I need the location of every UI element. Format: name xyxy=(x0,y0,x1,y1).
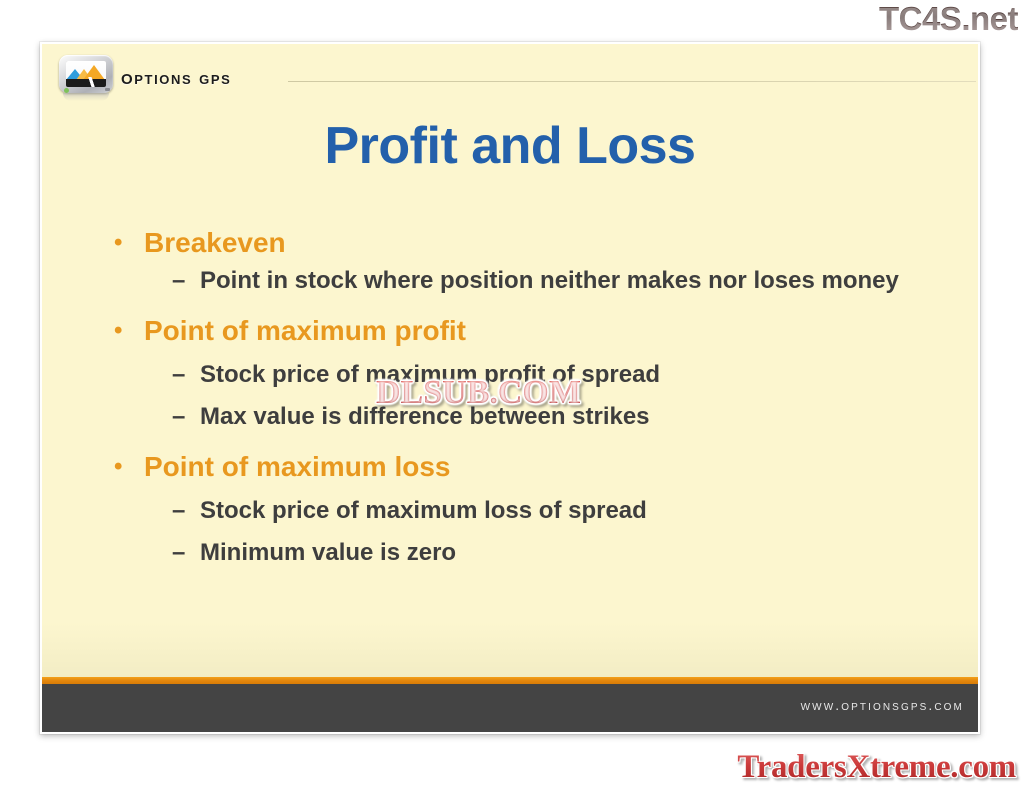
dlsub-watermark: DLSUB.COM xyxy=(371,374,586,412)
gps-road xyxy=(76,77,106,87)
bullet-level1-label: Breakeven xyxy=(144,227,286,258)
brand-name: Options GPS xyxy=(121,64,231,90)
tc4s-watermark: TC4S.net xyxy=(879,0,1018,38)
bullet-level1-max-loss: • Point of maximum loss xyxy=(98,446,958,487)
footer-accent-rule xyxy=(42,677,978,684)
dash-marker-icon: – xyxy=(172,399,185,435)
page-title: Profit and Loss xyxy=(42,116,978,176)
bullet-marker-icon: • xyxy=(114,222,122,263)
gps-button xyxy=(105,88,110,91)
bullet-group-breakeven: • Breakeven – Point in stock where posit… xyxy=(98,222,958,299)
dash-marker-icon: – xyxy=(172,493,185,529)
bullet-group-max-profit: • Point of maximum profit – Stock price … xyxy=(98,310,958,435)
footer-url: www.OptionsGPS.com xyxy=(801,697,964,713)
slide-footer: www.OptionsGPS.com xyxy=(42,684,978,732)
dash-marker-icon: – xyxy=(172,535,185,571)
spacer xyxy=(98,437,958,446)
bullet-level1-breakeven: • Breakeven xyxy=(98,222,958,263)
bullet-marker-icon: • xyxy=(114,446,122,487)
tradersxtreme-logo: TradersXtreme.com xyxy=(737,747,1016,787)
dash-marker-icon: – xyxy=(172,357,185,393)
bullet-level2-item: – Stock price of maximum loss of spread xyxy=(98,493,958,529)
slide-page: TC4S.net Options GPS xyxy=(0,0,1024,791)
bullet-level2-item: – Minimum value is zero xyxy=(98,535,958,571)
bullet-level2-label: Point in stock where position neither ma… xyxy=(200,267,899,294)
bullet-marker-icon: • xyxy=(114,310,122,351)
dash-marker-icon: – xyxy=(172,263,185,299)
gps-reflection xyxy=(63,93,109,101)
bullet-level1-max-profit: • Point of maximum profit xyxy=(98,310,958,351)
spacer xyxy=(98,301,958,310)
slide-header: Options GPS xyxy=(42,44,978,100)
bullet-group-max-loss: • Point of maximum loss – Stock price of… xyxy=(98,446,958,571)
header-divider xyxy=(288,81,976,82)
bullet-level1-label: Point of maximum profit xyxy=(144,315,466,346)
gps-device-icon xyxy=(59,55,113,95)
bullet-level2-label: Stock price of maximum loss of spread xyxy=(200,497,647,524)
gps-screen xyxy=(66,61,106,87)
bullet-level2-item: – Point in stock where position neither … xyxy=(98,263,958,299)
bullet-level2-label: Minimum value is zero xyxy=(200,539,456,566)
bullet-level1-label: Point of maximum loss xyxy=(144,451,451,482)
